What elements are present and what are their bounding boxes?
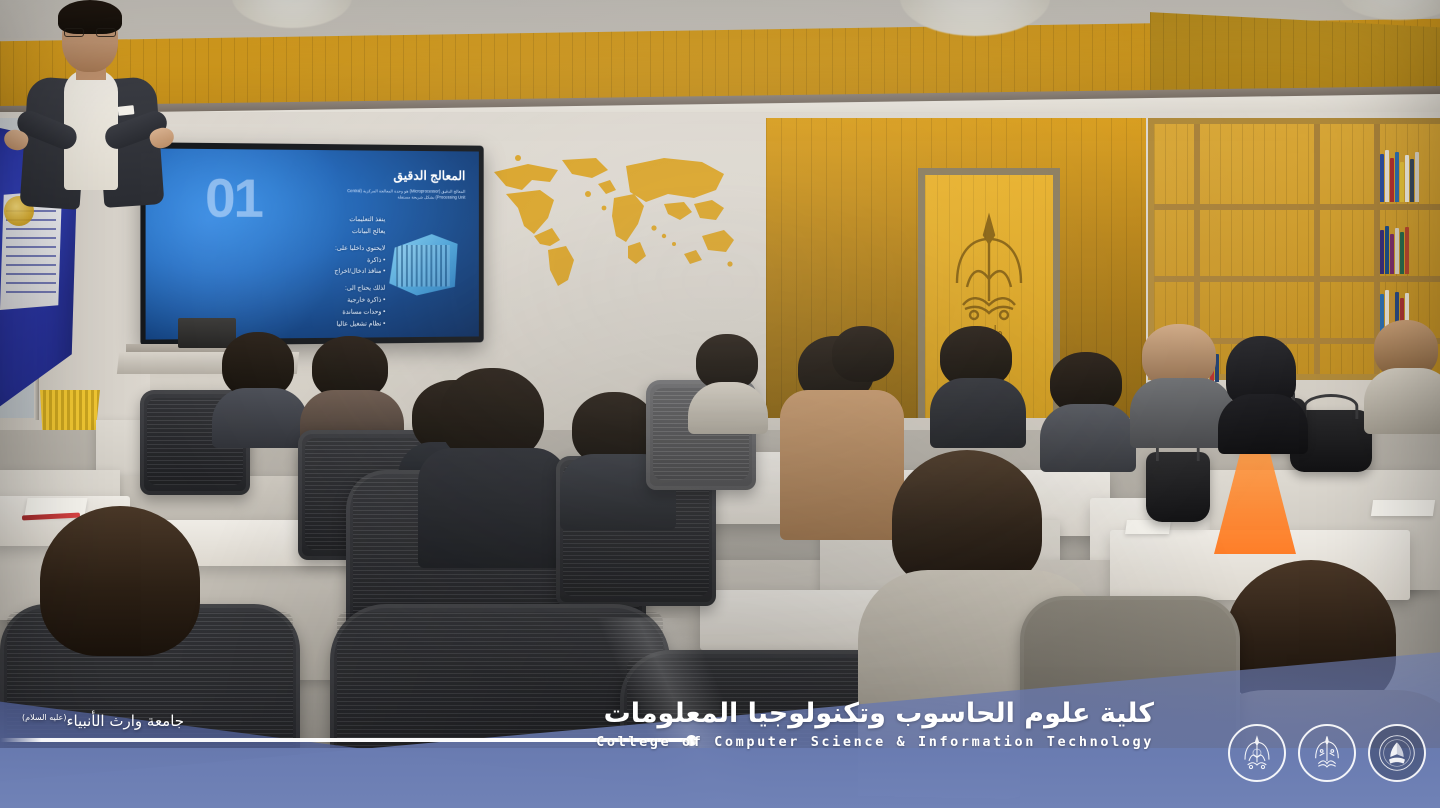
microprocessor-chip-icon [389,234,457,296]
book-row [1380,144,1419,202]
student [1368,320,1440,420]
slide-subtitle: المعالج الدقيق (Microprocessor) هو وحدة … [328,188,465,201]
student [212,332,308,424]
book-row [1380,220,1409,274]
presentation-display[interactable]: 01 المعالج الدقيق المعالج الدقيق (Microp… [140,142,483,345]
lecture-hall-photo: 01 المعالج الدقيق المعالج الدقيق (Microp… [0,0,1440,808]
pocket-square [118,105,135,116]
student [1040,352,1136,458]
slide-title: المعالج الدقيق [393,168,465,183]
slide-screen: 01 المعالج الدقيق المعالج الدقيق (Microp… [146,148,479,339]
black-handbag [1146,452,1210,522]
student [300,336,404,436]
slide-bullet: لذلك يحتاج الى: [256,283,386,295]
slide-bullets: ينفذ التعليماتيعالج البياناتلايحتوي داخل… [256,214,386,331]
notebook-paper [1125,520,1171,534]
glasses-icon [64,28,116,37]
slide-bullet: • ذاكرة خارجية [256,295,386,308]
slide-bullet: • وحدات مساندة [256,306,386,319]
student-with-glasses [1132,324,1232,434]
student-foreground [40,506,220,686]
slide-bullet: ينفذ التعليمات [256,214,386,226]
slide-bullet: • نظام تشغيل عاليا [256,318,386,331]
student [688,334,768,412]
office-chair [1020,596,1240,808]
student [826,326,906,396]
world-map-wall-decal [488,150,740,288]
student [424,368,560,528]
notebook-paper [1371,500,1435,516]
slide-bullet: لايحتوي داخليا على: [256,243,386,255]
office-chair [330,604,670,808]
slide-bullet: • ذاكرة [256,254,386,266]
student [930,326,1026,436]
university-emblem-icon: وارث [941,209,1037,339]
slide-number: 01 [205,167,262,230]
slide-bullet: • منافذ ادخال/اخراج [256,266,386,278]
slide-bullet: يعالج البيانات [256,226,386,238]
student-hijab [1218,336,1308,436]
